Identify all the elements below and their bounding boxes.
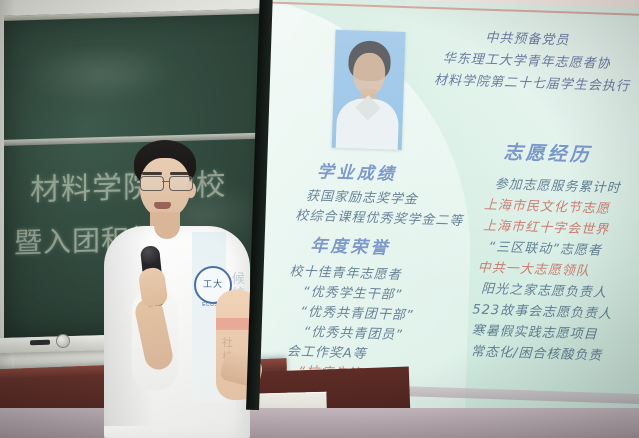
left-column-heading-1: 学业成绩 — [317, 157, 398, 185]
right-item-4: 中共一大志愿领队 — [478, 257, 591, 280]
left-item-2-2: “优秀共青团干部” — [300, 301, 414, 324]
lens-left — [140, 176, 164, 191]
speaker-eyebrow-right — [170, 172, 190, 175]
slide-header-line-1: 华东理工大学青年志愿者协 — [442, 47, 611, 72]
right-item-2: 上海市红十字会世界 — [483, 215, 610, 238]
tray-knob — [56, 334, 70, 348]
chalk-piece — [30, 340, 50, 346]
right-item-0: 参加志愿服务累计时 — [494, 173, 621, 196]
right-item-5: 阳光之家志愿负责人 — [481, 278, 608, 301]
glasses-bridge — [162, 181, 169, 182]
left-column-heading-2: 年度荣誉 — [310, 231, 391, 259]
left-item-2-4: 会工作奖A等 — [287, 340, 367, 362]
classroom-scene: 材料学院 党校 暨入团积极分 不大献血 中共预备党员 华东理工大 — [0, 0, 639, 438]
slide-header-line-0: 中共预备党员 — [485, 27, 570, 49]
slide-header-line-2: 材料学院第二十七届学生会执行 — [434, 69, 631, 94]
right-item-3: “三区联动”志愿者 — [488, 236, 602, 259]
id-portrait-photo — [332, 30, 406, 150]
left-item-2-3: “优秀共青团员” — [303, 321, 403, 343]
speaker-eyebrow-left — [142, 172, 162, 175]
right-item-8: 常态化/困合核酸负责 — [471, 340, 603, 363]
left-item-1-0: 获国家励志奖学金 — [306, 185, 419, 208]
right-item-7: 寒暑假实践志愿项目 — [471, 319, 598, 342]
left-item-2-1: “优秀学生干部” — [303, 281, 403, 303]
eyeglasses — [140, 176, 194, 190]
lens-right — [169, 176, 193, 191]
presentation-slide: 不大献血 中共预备党员 华东理工大学青年志愿者协 材料学院第二十七届学生会执行 … — [255, 0, 639, 423]
projector-screen: 不大献血 中共预备党员 华东理工大学青年志愿者协 材料学院第二十七届学生会执行 … — [255, 0, 639, 423]
right-item-6: 523故事会志愿负责人 — [472, 298, 612, 322]
left-item-2-0: 校十佳青年志愿者 — [289, 260, 402, 283]
tshirt-logo-label: 工大 — [196, 277, 230, 290]
speaker-mouth — [154, 202, 171, 209]
right-column-heading: 志愿经历 — [503, 137, 592, 167]
microphone-head — [140, 245, 161, 265]
right-item-1: 上海市民文化节志愿 — [484, 194, 611, 217]
chalk-smudge — [24, 41, 174, 105]
